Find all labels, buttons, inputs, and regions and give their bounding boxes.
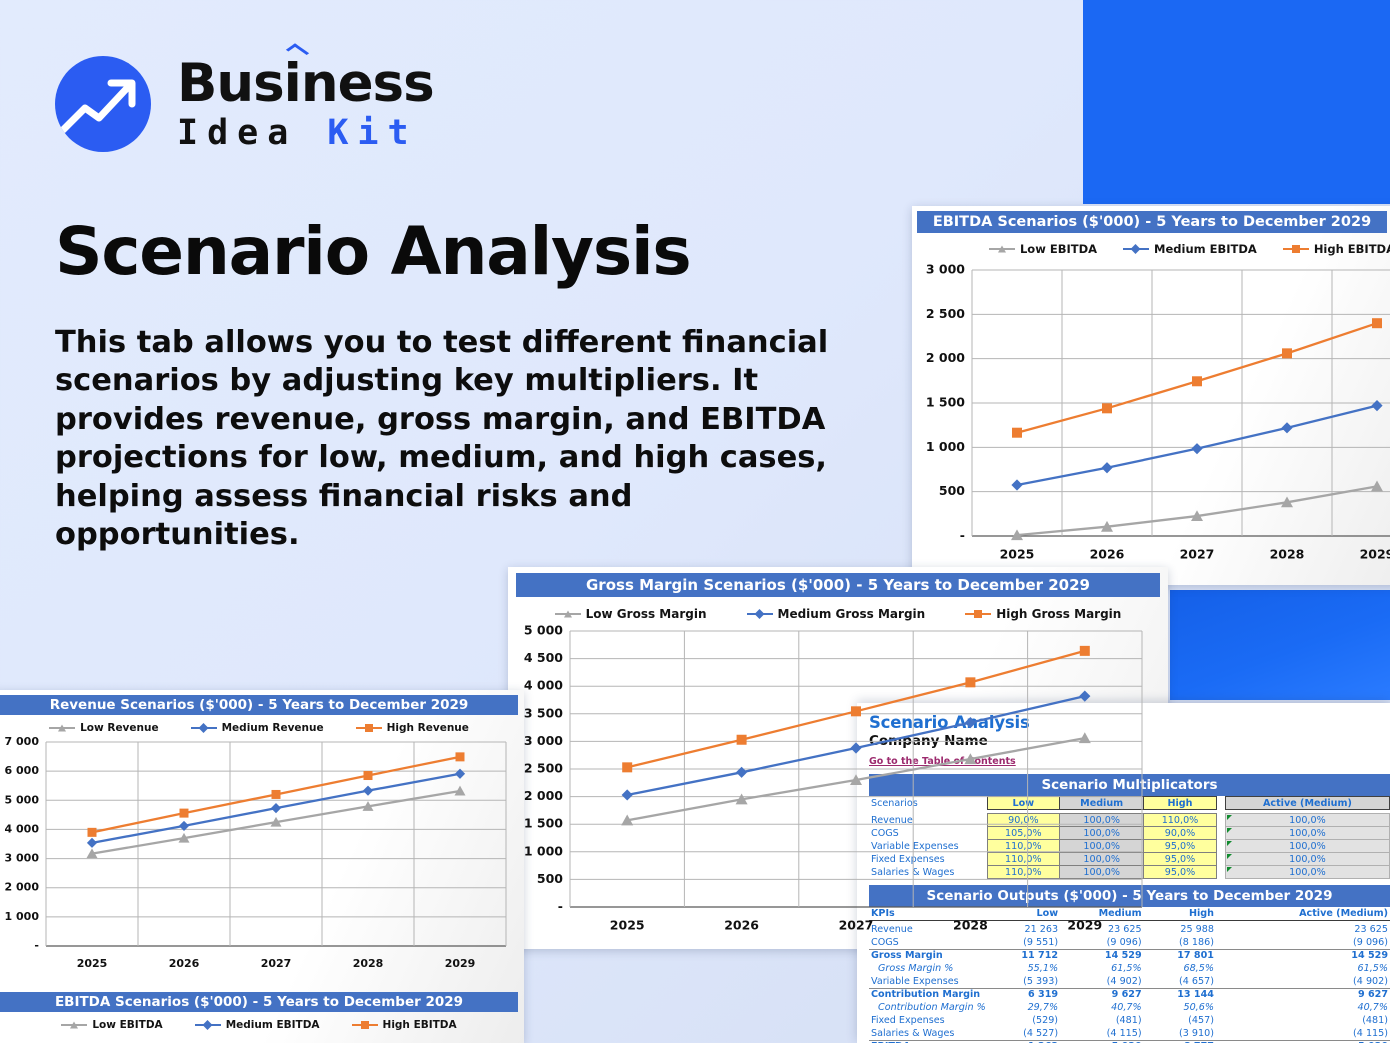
svg-text:2027: 2027 bbox=[1180, 547, 1215, 562]
svg-text:7 000: 7 000 bbox=[5, 736, 40, 748]
output-row: Variable Expenses(5 393)(4 902)(4 657)(4… bbox=[869, 975, 1390, 988]
out-col-header-active: Active (Medium) bbox=[1225, 907, 1390, 920]
comment-flag-icon bbox=[1227, 815, 1232, 820]
brand-name-line1: Business bbox=[177, 53, 434, 114]
cell-active: (9 096) bbox=[1225, 936, 1390, 949]
cell-high: (4 657) bbox=[1144, 975, 1216, 988]
cell-medium: (4 902) bbox=[1060, 975, 1144, 988]
chart-legend-revenue: Low RevenueMedium RevenueHigh Revenue bbox=[0, 722, 524, 734]
legend-item-medium-gross-margin: Medium Gross Margin bbox=[747, 607, 926, 621]
comment-flag-icon bbox=[1227, 828, 1232, 833]
cell-low: (5 393) bbox=[988, 975, 1060, 988]
svg-text:3 000: 3 000 bbox=[5, 852, 40, 865]
legend-swatch bbox=[356, 727, 382, 730]
legend-swatch bbox=[555, 613, 581, 616]
svg-text:2029: 2029 bbox=[1360, 547, 1390, 562]
legend-item-high-revenue: High Revenue bbox=[356, 722, 469, 734]
legend-label: High EBITDA bbox=[1314, 242, 1390, 256]
comment-flag-icon bbox=[1227, 854, 1232, 859]
svg-text:-: - bbox=[960, 528, 965, 543]
svg-text:1 000: 1 000 bbox=[926, 439, 965, 454]
svg-text:3 500: 3 500 bbox=[524, 705, 563, 720]
chart-panel-ebitda-top: EBITDA Scenarios ($'000) - 5 Years to De… bbox=[912, 206, 1390, 585]
svg-text:4 000: 4 000 bbox=[524, 678, 563, 693]
svg-text:1 500: 1 500 bbox=[926, 395, 965, 410]
chart-legend-gross-margin: Low Gross MarginMedium Gross MarginHigh … bbox=[508, 607, 1168, 621]
row-label: Gross Margin % bbox=[869, 962, 988, 975]
legend-label: Medium EBITDA bbox=[226, 1019, 320, 1031]
cell-active: (4 115) bbox=[1225, 1027, 1390, 1040]
legend-item-medium-ebitda: Medium EBITDA bbox=[1123, 242, 1257, 256]
cell-high: (3 910) bbox=[1144, 1027, 1216, 1040]
legend-label: High EBITDA bbox=[383, 1019, 457, 1031]
cell-medium: 9 627 bbox=[1060, 988, 1144, 1001]
svg-text:2027: 2027 bbox=[261, 957, 292, 970]
svg-text:2 000: 2 000 bbox=[524, 788, 563, 803]
svg-text:2027: 2027 bbox=[839, 918, 874, 933]
cell-medium: (4 115) bbox=[1060, 1027, 1144, 1040]
svg-text:2028: 2028 bbox=[953, 918, 988, 933]
output-row: Contribution Margin %29,7%40,7%50,6%40,7… bbox=[869, 1001, 1390, 1014]
chart-legend-ebitda-bottom: Low EBITDAMedium EBITDAHigh EBITDA bbox=[0, 1019, 524, 1031]
svg-text:2 500: 2 500 bbox=[926, 306, 965, 321]
cell-low: 55,1% bbox=[988, 962, 1060, 975]
svg-text:2 000: 2 000 bbox=[5, 881, 40, 894]
legend-label: Medium EBITDA bbox=[1154, 242, 1257, 256]
brand-logo: Business Idea Kit bbox=[55, 56, 434, 152]
cell-active: 61,5% bbox=[1225, 962, 1390, 975]
svg-text:2026: 2026 bbox=[169, 957, 200, 970]
svg-text:6 000: 6 000 bbox=[5, 764, 40, 777]
legend-swatch bbox=[191, 727, 217, 730]
cell-active: 40,7% bbox=[1225, 1001, 1390, 1014]
legend-swatch bbox=[965, 613, 991, 616]
svg-text:1 000: 1 000 bbox=[5, 910, 40, 923]
cell-active[interactable]: 100,0% bbox=[1225, 853, 1389, 866]
svg-text:500: 500 bbox=[939, 483, 965, 498]
growth-arrow-icon bbox=[55, 56, 151, 152]
legend-label: Low EBITDA bbox=[92, 1019, 162, 1031]
legend-item-low-revenue: Low Revenue bbox=[49, 722, 159, 734]
cell-medium: 61,5% bbox=[1060, 962, 1144, 975]
row-label: Variable Expenses bbox=[869, 975, 988, 988]
brand-name-idea: Idea bbox=[177, 113, 327, 153]
chart-plot-revenue: -1 0002 0003 0004 0005 0006 0007 0002025… bbox=[0, 736, 524, 986]
legend-label: Medium Revenue bbox=[222, 722, 324, 734]
page-description: This tab allows you to test different fi… bbox=[55, 324, 855, 555]
output-row: Gross Margin %55,1%61,5%68,5%61,5% bbox=[869, 962, 1390, 975]
row-label: Fixed Expenses bbox=[869, 1014, 988, 1027]
chart-panel-gross-margin: Gross Margin Scenarios ($'000) - 5 Years… bbox=[508, 567, 1168, 949]
cell-low: 11 712 bbox=[988, 949, 1060, 962]
cell-active[interactable]: 100,0% bbox=[1225, 866, 1389, 879]
legend-swatch bbox=[1283, 248, 1309, 251]
svg-text:2 500: 2 500 bbox=[524, 761, 563, 776]
svg-text:2 000: 2 000 bbox=[926, 350, 965, 365]
cell-high: (457) bbox=[1144, 1014, 1216, 1027]
output-row: Fixed Expenses(529)(481)(457)(481) bbox=[869, 1014, 1390, 1027]
svg-text:2029: 2029 bbox=[445, 957, 476, 970]
svg-text:1 000: 1 000 bbox=[524, 843, 563, 858]
legend-item-low-ebitda: Low EBITDA bbox=[989, 242, 1097, 256]
svg-text:2025: 2025 bbox=[610, 918, 645, 933]
cell-low: 6 319 bbox=[988, 988, 1060, 1001]
cell-active[interactable]: 100,0% bbox=[1225, 827, 1389, 840]
svg-text:-: - bbox=[34, 939, 39, 952]
legend-item-medium-revenue: Medium Revenue bbox=[191, 722, 324, 734]
svg-text:2026: 2026 bbox=[724, 918, 759, 933]
brand-name-kit: Kit bbox=[327, 113, 417, 153]
cell-high: 13 144 bbox=[1144, 988, 1216, 1001]
cell-high: 68,5% bbox=[1144, 962, 1216, 975]
output-row: Salaries & Wages(4 527)(4 115)(3 910)(4 … bbox=[869, 1027, 1390, 1040]
chart-panel-revenue: Revenue Scenarios ($'000) - 5 Years to D… bbox=[0, 690, 524, 1043]
comment-flag-icon bbox=[1227, 841, 1232, 846]
svg-text:2028: 2028 bbox=[353, 957, 384, 970]
legend-label: Medium Gross Margin bbox=[778, 607, 926, 621]
svg-text:2025: 2025 bbox=[1000, 547, 1035, 562]
chart-title-ebitda-bottom: EBITDA Scenarios ($'000) - 5 Years to De… bbox=[0, 992, 518, 1012]
legend-swatch bbox=[989, 248, 1015, 251]
cell-medium: 14 529 bbox=[1060, 949, 1144, 962]
legend-item-medium-ebitda: Medium EBITDA bbox=[195, 1019, 320, 1031]
legend-swatch bbox=[1123, 248, 1149, 251]
svg-text:3 000: 3 000 bbox=[926, 262, 965, 277]
cell-low: (529) bbox=[988, 1014, 1060, 1027]
cell-active[interactable]: 100,0% bbox=[1225, 840, 1389, 853]
legend-item-high-gross-margin: High Gross Margin bbox=[965, 607, 1121, 621]
chart-plot-ebitda-top: -5001 0001 5002 0002 5003 00020252026202… bbox=[912, 262, 1390, 582]
decorative-blue-block-top bbox=[1083, 0, 1390, 204]
chart-plot-gross-margin: -5001 0001 5002 0002 5003 0003 5004 0004… bbox=[508, 625, 1168, 949]
cell-medium: 40,7% bbox=[1060, 1001, 1144, 1014]
cell-high: 50,6% bbox=[1144, 1001, 1216, 1014]
page-title: Scenario Analysis bbox=[55, 213, 690, 290]
legend-item-high-ebitda: High EBITDA bbox=[352, 1019, 457, 1031]
cell-low: 29,7% bbox=[988, 1001, 1060, 1014]
chart-legend-ebitda-top: Low EBITDAMedium EBITDAHigh EBITDA bbox=[912, 242, 1390, 256]
svg-text:2025: 2025 bbox=[77, 957, 108, 970]
cell-high: 17 801 bbox=[1144, 949, 1216, 962]
col-header-active: Active (Medium) bbox=[1225, 797, 1389, 810]
chart-title-ebitda-top: EBITDA Scenarios ($'000) - 5 Years to De… bbox=[917, 211, 1387, 233]
svg-text:2029: 2029 bbox=[1067, 918, 1102, 933]
row-label: Contribution Margin % bbox=[869, 1001, 988, 1014]
svg-text:1 500: 1 500 bbox=[524, 816, 563, 831]
legend-label: Low Revenue bbox=[80, 722, 159, 734]
legend-swatch bbox=[195, 1024, 221, 1027]
legend-swatch bbox=[747, 613, 773, 616]
svg-text:-: - bbox=[558, 899, 563, 914]
legend-item-low-ebitda: Low EBITDA bbox=[61, 1019, 162, 1031]
output-row: Contribution Margin6 3199 62713 1449 627 bbox=[869, 988, 1390, 1001]
output-row: Gross Margin11 71214 52917 80114 529 bbox=[869, 949, 1390, 962]
cell-active: 23 625 bbox=[1225, 923, 1390, 936]
cell-active: 14 529 bbox=[1225, 949, 1390, 962]
row-label: Salaries & Wages bbox=[869, 1027, 988, 1040]
legend-item-high-ebitda: High EBITDA bbox=[1283, 242, 1390, 256]
legend-label: Low Gross Margin bbox=[586, 607, 707, 621]
row-label: Contribution Margin bbox=[869, 988, 988, 1001]
decorative-blue-block-middle bbox=[1170, 590, 1390, 700]
svg-text:5 000: 5 000 bbox=[524, 625, 563, 638]
chart-title-gross-margin: Gross Margin Scenarios ($'000) - 5 Years… bbox=[516, 573, 1160, 597]
legend-item-low-gross-margin: Low Gross Margin bbox=[555, 607, 707, 621]
comment-flag-icon bbox=[1227, 867, 1232, 872]
svg-text:4 000: 4 000 bbox=[5, 822, 40, 835]
svg-text:500: 500 bbox=[537, 871, 563, 886]
svg-text:3 000: 3 000 bbox=[524, 733, 563, 748]
chart-title-revenue: Revenue Scenarios ($'000) - 5 Years to D… bbox=[0, 695, 518, 715]
cell-low: (4 527) bbox=[988, 1027, 1060, 1040]
legend-label: High Gross Margin bbox=[996, 607, 1121, 621]
cell-active: 9 627 bbox=[1225, 988, 1390, 1001]
svg-text:2028: 2028 bbox=[1270, 547, 1305, 562]
legend-swatch bbox=[61, 1024, 87, 1027]
cell-active: (4 902) bbox=[1225, 975, 1390, 988]
legend-label: Low EBITDA bbox=[1020, 242, 1097, 256]
svg-text:4 500: 4 500 bbox=[524, 650, 563, 665]
legend-label: High Revenue bbox=[387, 722, 469, 734]
cell-active: (481) bbox=[1225, 1014, 1390, 1027]
svg-text:5 000: 5 000 bbox=[5, 793, 40, 806]
svg-text:2026: 2026 bbox=[1090, 547, 1125, 562]
cell-active[interactable]: 100,0% bbox=[1225, 814, 1389, 827]
column-spacer bbox=[1216, 797, 1225, 810]
legend-swatch bbox=[49, 727, 75, 730]
cell-medium: (481) bbox=[1060, 1014, 1144, 1027]
row-label: Gross Margin bbox=[869, 949, 988, 962]
legend-swatch bbox=[352, 1024, 378, 1027]
